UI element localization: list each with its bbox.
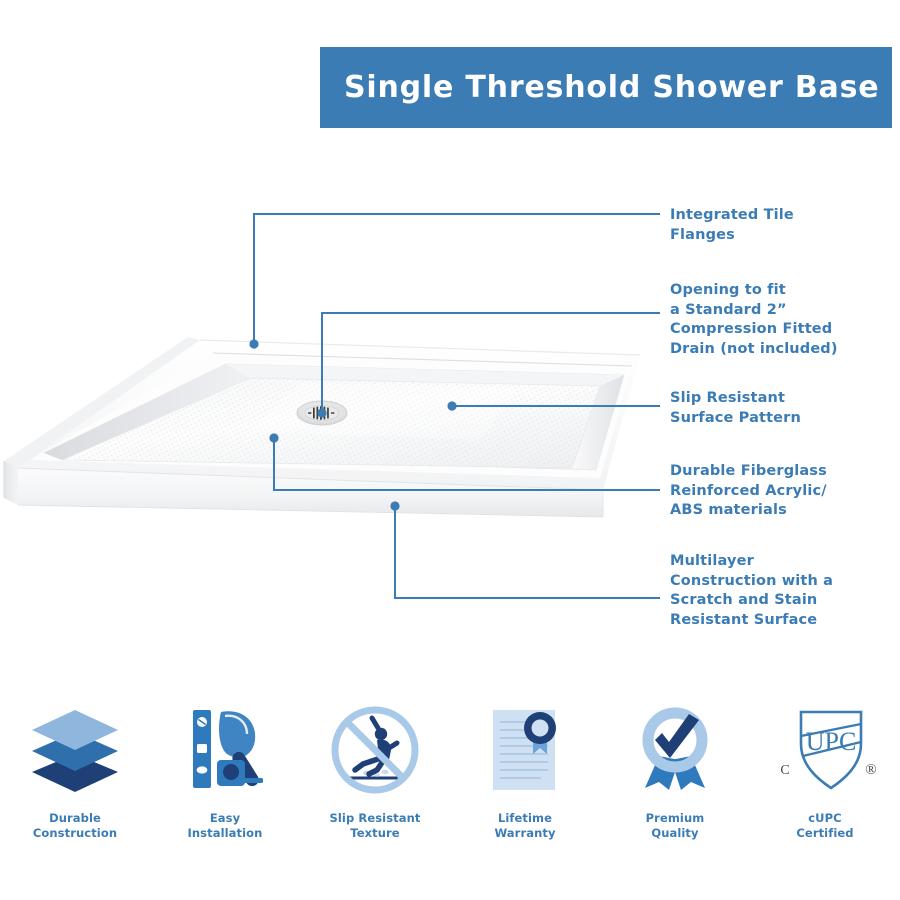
- level-and-trowel-icon: [165, 695, 285, 805]
- feature-label: Premium Quality: [646, 811, 705, 841]
- feature-label: Easy Installation: [188, 811, 263, 841]
- callout-integrated-tile-flanges: Integrated Tile Flanges: [670, 206, 794, 245]
- callout-drain-opening: Opening to fit a Standard 2” Compression…: [670, 281, 838, 360]
- feature-label: Lifetime Warranty: [494, 811, 555, 841]
- upc-shield-text: UPC: [806, 727, 857, 756]
- title-banner: Single Threshold Shower Base: [320, 47, 892, 128]
- callout-slip-resistant-surface: Slip Resistant Surface Pattern: [670, 389, 801, 428]
- upc-shield-icon: UPC C ®: [765, 695, 885, 805]
- callout-multilayer-construction: Multilayer Construction with a Scratch a…: [670, 552, 833, 631]
- warranty-certificate-icon: [465, 695, 585, 805]
- feature-badge-strip: Durable Construction: [0, 695, 900, 875]
- upc-c-mark: C: [780, 763, 789, 778]
- stacked-layers-icon: [15, 695, 135, 805]
- feature-lifetime-warranty: Lifetime Warranty: [450, 695, 600, 841]
- callout-durable-materials: Durable Fiberglass Reinforced Acrylic/ A…: [670, 462, 827, 521]
- feature-durable-construction: Durable Construction: [0, 695, 150, 841]
- quality-rosette-icon: [615, 695, 735, 805]
- feature-premium-quality: Premium Quality: [600, 695, 750, 841]
- page-title: Single Threshold Shower Base: [344, 73, 879, 103]
- product-illustration: [0, 320, 660, 550]
- infographic-page: Single Threshold Shower Base: [0, 0, 900, 900]
- feature-cupc-certified: UPC C ® cUPC Certified: [750, 695, 900, 841]
- no-slip-icon: [315, 695, 435, 805]
- feature-easy-installation: Easy Installation: [150, 695, 300, 841]
- feature-slip-resistant-texture: Slip Resistant Texture: [300, 695, 450, 841]
- upc-registered-mark: ®: [865, 762, 876, 778]
- shower-base-drawing: [0, 320, 660, 550]
- feature-label: cUPC Certified: [796, 811, 853, 841]
- feature-label: Durable Construction: [33, 811, 117, 841]
- feature-label: Slip Resistant Texture: [329, 811, 420, 841]
